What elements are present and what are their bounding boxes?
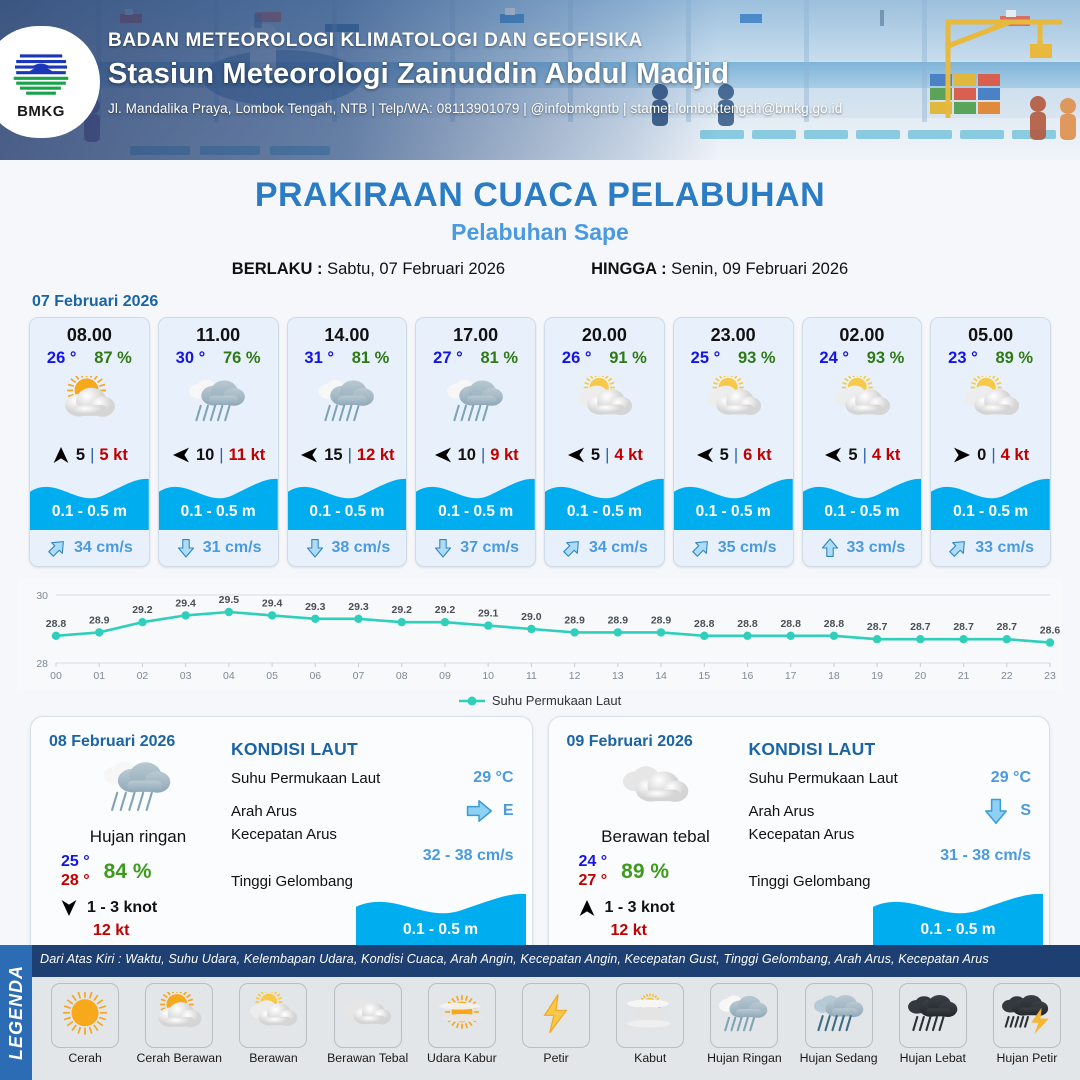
card-current-row: 37 cm/s bbox=[416, 530, 535, 566]
svg-text:29.2: 29.2 bbox=[392, 604, 413, 616]
svg-text:28.9: 28.9 bbox=[89, 614, 110, 626]
card-temp-humidity: 31 °81 % bbox=[288, 348, 407, 368]
panel-sst-row: Suhu Permukaan Laut29 °C bbox=[749, 769, 1032, 787]
weather-icon-hujan-petir bbox=[1001, 992, 1053, 1039]
legenda-icon-box bbox=[522, 983, 590, 1048]
legenda-tab: LEGENDA bbox=[0, 945, 32, 1080]
forecast-card: 20.0026 °91 %5|4 kt0.1 - 0.5 m34 cm/s bbox=[544, 317, 665, 567]
wave-graphic bbox=[803, 472, 922, 530]
card-time: 05.00 bbox=[931, 318, 1050, 348]
card-current-speed: 37 cm/s bbox=[460, 539, 519, 557]
panel-temps: 24 °27 ° bbox=[579, 853, 608, 890]
svg-text:28.8: 28.8 bbox=[694, 618, 715, 630]
card-temperature: 25 ° bbox=[691, 349, 721, 368]
svg-text:28.8: 28.8 bbox=[780, 618, 801, 630]
panel-current-speed-label: Kecepatan Arus bbox=[231, 826, 514, 843]
wave-graphic bbox=[288, 472, 407, 530]
card-weather-icon bbox=[416, 368, 535, 438]
wind-direction-arrow-e bbox=[566, 445, 586, 465]
card-wind-speed: 5 bbox=[591, 446, 600, 465]
svg-text:16: 16 bbox=[742, 670, 754, 682]
card-time: 08.00 bbox=[30, 318, 149, 348]
legenda-item-label: Cerah Berawan bbox=[137, 1051, 222, 1065]
panel-sst-value: 29 °C bbox=[991, 769, 1031, 787]
svg-text:28: 28 bbox=[36, 658, 48, 670]
card-humidity: 87 % bbox=[94, 349, 132, 368]
current-direction-arrow-s bbox=[175, 537, 197, 559]
panel-date: 08 Februari 2026 bbox=[49, 733, 227, 751]
weather-icon-berawan-tebal bbox=[342, 992, 394, 1039]
legenda-item: Kabut bbox=[603, 983, 697, 1065]
wave-graphic bbox=[416, 472, 535, 530]
legenda-icon-box bbox=[616, 983, 684, 1048]
card-wave-zone: 0.1 - 0.5 m bbox=[416, 472, 535, 530]
legenda-item: Berawan Tebal bbox=[321, 983, 415, 1065]
panel-wave-wrap: 0.1 - 0.5 m bbox=[356, 887, 526, 949]
card-gust: 4 kt bbox=[1001, 446, 1029, 465]
card-wind-speed: 15 bbox=[324, 446, 342, 465]
wind-direction-arrow-e bbox=[695, 445, 715, 465]
card-time: 20.00 bbox=[545, 318, 664, 348]
forecast-card: 17.0027 °81 %10|9 kt0.1 - 0.5 m37 cm/s bbox=[415, 317, 536, 567]
forecast-card: 05.0023 °89 %0|4 kt0.1 - 0.5 m33 cm/s bbox=[930, 317, 1051, 567]
card-temperature: 26 ° bbox=[47, 349, 77, 368]
panel-wind-range: 1 - 3 knot bbox=[605, 899, 675, 917]
svg-text:28.8: 28.8 bbox=[824, 618, 845, 630]
svg-text:29.3: 29.3 bbox=[305, 601, 326, 613]
card-weather-icon bbox=[159, 368, 278, 438]
card-current-speed: 35 cm/s bbox=[718, 539, 777, 557]
card-humidity: 93 % bbox=[738, 349, 776, 368]
card-wind-row: 10|11 kt bbox=[159, 438, 278, 472]
legenda-icon-box bbox=[805, 983, 873, 1048]
legenda-item: Udara Kabur bbox=[415, 983, 509, 1065]
card-wave-height: 0.1 - 0.5 m bbox=[803, 503, 922, 521]
svg-text:12: 12 bbox=[569, 670, 581, 682]
card-time: 14.00 bbox=[288, 318, 407, 348]
card-time: 02.00 bbox=[803, 318, 922, 348]
svg-text:28.7: 28.7 bbox=[953, 621, 974, 633]
card-current-speed: 34 cm/s bbox=[589, 539, 648, 557]
panel-humidity: 89 % bbox=[621, 860, 669, 884]
page-title: PRAKIRAAN CUACA PELABUHAN bbox=[0, 176, 1080, 215]
card-gust: 4 kt bbox=[614, 446, 642, 465]
svg-text:28.7: 28.7 bbox=[867, 621, 888, 633]
valid-from: BERLAKU : Sabtu, 07 Februari 2026 bbox=[232, 260, 505, 279]
chart-legend-swatch bbox=[459, 695, 485, 707]
card-current-row: 35 cm/s bbox=[674, 530, 793, 566]
card-current-row: 33 cm/s bbox=[803, 530, 922, 566]
panel-sst-row: Suhu Permukaan Laut29 °C bbox=[231, 769, 514, 787]
card-wind-separator: | bbox=[348, 446, 352, 465]
card-wave-zone: 0.1 - 0.5 m bbox=[674, 472, 793, 530]
card-temperature: 31 ° bbox=[304, 349, 334, 368]
panel-current-speed-row: Kecepatan Arus31 - 38 cm/s bbox=[749, 826, 1032, 865]
card-humidity: 81 % bbox=[480, 349, 518, 368]
panel-wind-row: 1 - 3 knot bbox=[59, 898, 227, 918]
svg-text:28.9: 28.9 bbox=[608, 614, 629, 626]
current-direction-arrow-s bbox=[432, 537, 454, 559]
svg-text:28.7: 28.7 bbox=[910, 621, 931, 633]
svg-text:28.9: 28.9 bbox=[564, 614, 585, 626]
legenda-item-label: Udara Kabur bbox=[427, 1051, 497, 1065]
card-wind-separator: | bbox=[991, 446, 995, 465]
legenda-icon-box bbox=[145, 983, 213, 1048]
panel-date: 09 Februari 2026 bbox=[567, 733, 745, 751]
current-direction-arrow-e bbox=[464, 796, 494, 826]
current-direction-arrow-ne bbox=[947, 537, 969, 559]
legenda-item: Petir bbox=[509, 983, 603, 1065]
svg-text:28.6: 28.6 bbox=[1040, 625, 1061, 637]
card-humidity: 89 % bbox=[995, 349, 1033, 368]
card-gust: 11 kt bbox=[229, 446, 266, 465]
card-temperature: 23 ° bbox=[948, 349, 978, 368]
legenda-item-label: Hujan Sedang bbox=[800, 1051, 878, 1065]
legenda-icon-box bbox=[239, 983, 307, 1048]
svg-text:10: 10 bbox=[482, 670, 494, 682]
svg-text:20: 20 bbox=[915, 670, 927, 682]
forecast-card: 14.0031 °81 %15|12 kt0.1 - 0.5 m38 cm/s bbox=[287, 317, 408, 567]
card-wind-row: 5|4 kt bbox=[803, 438, 922, 472]
card-current-row: 38 cm/s bbox=[288, 530, 407, 566]
legenda-item: Hujan Sedang bbox=[792, 983, 886, 1065]
panel-current-speed-value: 32 - 38 cm/s bbox=[231, 847, 514, 865]
wind-direction-arrow-e bbox=[823, 445, 843, 465]
card-temp-humidity: 27 °81 % bbox=[416, 348, 535, 368]
card-wind-row: 5|5 kt bbox=[30, 438, 149, 472]
forecast-card: 08.0026 °87 %5|5 kt0.1 - 0.5 m34 cm/s bbox=[29, 317, 150, 567]
current-direction-arrow-s bbox=[304, 537, 326, 559]
card-wave-height: 0.1 - 0.5 m bbox=[545, 503, 664, 521]
legenda-item-label: Kabut bbox=[634, 1051, 666, 1065]
weather-icon-berawan-tebal bbox=[620, 757, 692, 822]
panel-right: KONDISI LAUTSuhu Permukaan Laut29 °CArah… bbox=[227, 717, 532, 963]
card-wave-zone: 0.1 - 0.5 m bbox=[803, 472, 922, 530]
wind-direction-arrow-e bbox=[433, 445, 453, 465]
bmkg-logo-text: BMKG bbox=[17, 103, 65, 120]
weather-icon-hujan-ringan bbox=[188, 376, 248, 430]
card-time: 23.00 bbox=[674, 318, 793, 348]
legenda-item-label: Petir bbox=[543, 1051, 568, 1065]
svg-text:01: 01 bbox=[93, 670, 105, 682]
legenda-item: Hujan Lebat bbox=[886, 983, 980, 1065]
card-humidity: 76 % bbox=[223, 349, 261, 368]
card-weather-icon bbox=[288, 368, 407, 438]
svg-text:29.4: 29.4 bbox=[262, 597, 283, 609]
card-wind-row: 0|4 kt bbox=[931, 438, 1050, 472]
card-wave-height: 0.1 - 0.5 m bbox=[416, 503, 535, 521]
legenda-note: Dari Atas Kiri : Waktu, Suhu Udara, Kele… bbox=[40, 952, 1074, 966]
svg-text:29.1: 29.1 bbox=[478, 608, 499, 620]
wind-direction-arrow-s bbox=[51, 445, 71, 465]
card-current-row: 34 cm/s bbox=[30, 530, 149, 566]
panel-temp-max: 28 ° bbox=[61, 872, 90, 890]
title-block: PRAKIRAAN CUACA PELABUHAN Pelabuhan Sape… bbox=[0, 176, 1080, 279]
card-weather-icon bbox=[803, 368, 922, 438]
agency-name: BADAN METEOROLOGI KLIMATOLOGI DAN GEOFIS… bbox=[108, 30, 988, 52]
panel-sea-title: KONDISI LAUT bbox=[231, 739, 514, 760]
valid-from-value: Sabtu, 07 Februari 2026 bbox=[327, 260, 505, 278]
svg-text:29.0: 29.0 bbox=[521, 611, 542, 623]
panel-current-speed-row: Kecepatan Arus32 - 38 cm/s bbox=[231, 826, 514, 865]
svg-text:23: 23 bbox=[1044, 670, 1056, 682]
wind-direction-arrow-e bbox=[171, 445, 191, 465]
card-weather-icon bbox=[545, 368, 664, 438]
card-wind-speed: 5 bbox=[76, 446, 85, 465]
panel-wave-value: 0.1 - 0.5 m bbox=[873, 921, 1043, 939]
card-wind-speed: 10 bbox=[196, 446, 214, 465]
daily-forecast-panels: 08 Februari 2026Hujan ringan25 °28 °84 %… bbox=[0, 708, 1080, 964]
card-current-speed: 33 cm/s bbox=[975, 539, 1034, 557]
card-wind-separator: | bbox=[605, 446, 609, 465]
svg-text:13: 13 bbox=[612, 670, 624, 682]
weather-icon-cerah-berawan bbox=[153, 992, 205, 1039]
svg-text:00: 00 bbox=[50, 670, 62, 682]
card-wave-height: 0.1 - 0.5 m bbox=[30, 503, 149, 521]
svg-text:29.5: 29.5 bbox=[219, 594, 240, 606]
legenda-section: LEGENDA Dari Atas Kiri : Waktu, Suhu Uda… bbox=[0, 945, 1080, 1080]
weather-icon-berawan bbox=[703, 376, 763, 430]
bmkg-logo-icon bbox=[10, 44, 72, 102]
card-current-row: 31 cm/s bbox=[159, 530, 278, 566]
panel-temp-min: 24 ° bbox=[579, 853, 608, 871]
panel-temp-block: 25 °28 °84 % bbox=[61, 853, 227, 890]
sst-chart-svg: 302828.80028.90129.20229.40329.50429.405… bbox=[18, 579, 1062, 689]
card-weather-icon bbox=[931, 368, 1050, 438]
valid-until: HINGGA : Senin, 09 Februari 2026 bbox=[591, 260, 848, 279]
card-wind-speed: 10 bbox=[458, 446, 476, 465]
legenda-icon-box bbox=[899, 983, 967, 1048]
card-wind-speed: 0 bbox=[977, 446, 986, 465]
card-time: 17.00 bbox=[416, 318, 535, 348]
wind-direction-arrow-e bbox=[299, 445, 319, 465]
legenda-icon-box bbox=[334, 983, 402, 1048]
card-wind-row: 5|4 kt bbox=[545, 438, 664, 472]
panel-humidity: 84 % bbox=[104, 860, 152, 884]
wind-direction-arrow-w bbox=[952, 445, 972, 465]
card-current-speed: 34 cm/s bbox=[74, 539, 133, 557]
svg-text:19: 19 bbox=[871, 670, 883, 682]
panel-current-dir-value: S bbox=[1020, 802, 1031, 820]
sst-chart: 302828.80028.90129.20229.40329.50429.405… bbox=[18, 579, 1062, 689]
card-temp-humidity: 24 °93 % bbox=[803, 348, 922, 368]
legenda-item: Cerah bbox=[38, 983, 132, 1065]
panel-temp-block: 24 °27 °89 % bbox=[579, 853, 745, 890]
chart-legend: Suhu Permukaan Laut bbox=[0, 693, 1080, 708]
wind-direction-arrow-n bbox=[59, 898, 79, 918]
panel-current-dir-value: E bbox=[503, 802, 514, 820]
forecast-day-label: 07 Februari 2026 bbox=[32, 293, 1080, 311]
card-gust: 5 kt bbox=[99, 446, 127, 465]
panel-current-dir-label: Arah Arus bbox=[749, 803, 815, 820]
card-weather-icon bbox=[674, 368, 793, 438]
panel-sea-title: KONDISI LAUT bbox=[749, 739, 1032, 760]
card-gust: 6 kt bbox=[743, 446, 771, 465]
hourly-forecast-list: 08.0026 °87 %5|5 kt0.1 - 0.5 m34 cm/s11.… bbox=[0, 317, 1080, 567]
weather-icon-berawan bbox=[574, 376, 634, 430]
legenda-item-label: Cerah bbox=[68, 1051, 102, 1065]
valid-from-label: BERLAKU : bbox=[232, 260, 323, 278]
svg-text:14: 14 bbox=[655, 670, 667, 682]
valid-until-value: Senin, 09 Februari 2026 bbox=[671, 260, 848, 278]
legenda-item: Hujan Petir bbox=[980, 983, 1074, 1065]
card-gust: 12 kt bbox=[357, 446, 395, 465]
card-temp-humidity: 25 °93 % bbox=[674, 348, 793, 368]
card-temp-humidity: 26 °91 % bbox=[545, 348, 664, 368]
svg-text:06: 06 bbox=[309, 670, 321, 682]
card-temperature: 24 ° bbox=[819, 349, 849, 368]
card-current-row: 34 cm/s bbox=[545, 530, 664, 566]
svg-text:28.8: 28.8 bbox=[737, 618, 758, 630]
card-wave-height: 0.1 - 0.5 m bbox=[159, 503, 278, 521]
svg-text:07: 07 bbox=[353, 670, 365, 682]
legenda-item-label: Hujan Lebat bbox=[900, 1051, 966, 1065]
valid-until-label: HINGGA : bbox=[591, 260, 666, 278]
svg-text:21: 21 bbox=[958, 670, 970, 682]
current-direction-arrow-ne bbox=[46, 537, 68, 559]
card-wind-row: 10|9 kt bbox=[416, 438, 535, 472]
weather-icon-udara-kabur bbox=[436, 992, 488, 1039]
station-name: Stasiun Meteorologi Zainuddin Abdul Madj… bbox=[108, 58, 988, 91]
weather-icon-hujan-sedang bbox=[813, 992, 865, 1039]
svg-text:08: 08 bbox=[396, 670, 408, 682]
panel-left: 09 Februari 2026Berawan tebal24 °27 °89 … bbox=[549, 717, 745, 963]
panel-wave-wrap: 0.1 - 0.5 m bbox=[873, 887, 1043, 949]
svg-text:04: 04 bbox=[223, 670, 235, 682]
card-current-row: 33 cm/s bbox=[931, 530, 1050, 566]
card-wave-zone: 0.1 - 0.5 m bbox=[159, 472, 278, 530]
wave-graphic bbox=[159, 472, 278, 530]
weather-icon-hujan-ringan bbox=[317, 376, 377, 430]
weather-icon-hujan-ringan bbox=[718, 992, 770, 1039]
card-wind-separator: | bbox=[734, 446, 738, 465]
header-text-block: BADAN METEOROLOGI KLIMATOLOGI DAN GEOFIS… bbox=[108, 30, 988, 116]
legenda-icon-box bbox=[993, 983, 1061, 1048]
weather-icon-kabut bbox=[624, 992, 676, 1039]
panel-temp-max: 27 ° bbox=[579, 872, 608, 890]
panel-weather-icon bbox=[49, 753, 227, 825]
wave-graphic bbox=[30, 472, 149, 530]
svg-text:17: 17 bbox=[785, 670, 797, 682]
weather-icon-hujan-lebat bbox=[907, 992, 959, 1039]
svg-text:11: 11 bbox=[526, 670, 537, 682]
svg-text:29.3: 29.3 bbox=[348, 601, 369, 613]
svg-text:18: 18 bbox=[828, 670, 840, 682]
svg-text:05: 05 bbox=[266, 670, 278, 682]
panel-gust: 12 kt bbox=[93, 922, 227, 940]
port-name: Pelabuhan Sape bbox=[0, 219, 1080, 246]
legenda-icon-box bbox=[428, 983, 496, 1048]
panel-temp-min: 25 ° bbox=[61, 853, 90, 871]
panel-right: KONDISI LAUTSuhu Permukaan Laut29 °CArah… bbox=[745, 717, 1050, 963]
legenda-item-label: Berawan Tebal bbox=[327, 1051, 408, 1065]
legenda-icon-box bbox=[51, 983, 119, 1048]
legenda-icon-strip: CerahCerah BerawanBerawanBerawan TebalUd… bbox=[32, 977, 1080, 1080]
card-wind-separator: | bbox=[90, 446, 94, 465]
panel-current-speed-label: Kecepatan Arus bbox=[749, 826, 1032, 843]
card-current-speed: 33 cm/s bbox=[847, 539, 906, 557]
weather-icon-cerah bbox=[59, 992, 111, 1039]
card-humidity: 81 % bbox=[352, 349, 390, 368]
panel-sst-label: Suhu Permukaan Laut bbox=[749, 770, 898, 787]
svg-text:29.2: 29.2 bbox=[435, 604, 456, 616]
weather-icon-hujan-ringan bbox=[102, 757, 174, 822]
legenda-item: Berawan bbox=[226, 983, 320, 1065]
daily-forecast-panel: 09 Februari 2026Berawan tebal24 °27 °89 … bbox=[548, 716, 1051, 964]
card-humidity: 93 % bbox=[867, 349, 905, 368]
validity-row: BERLAKU : Sabtu, 07 Februari 2026 HINGGA… bbox=[0, 260, 1080, 279]
legenda-item-label: Hujan Petir bbox=[997, 1051, 1058, 1065]
wave-graphic bbox=[931, 472, 1050, 530]
weather-icon-berawan bbox=[832, 376, 892, 430]
panel-gust: 12 kt bbox=[611, 922, 745, 940]
panel-condition: Hujan ringan bbox=[49, 827, 227, 847]
card-wave-height: 0.1 - 0.5 m bbox=[288, 503, 407, 521]
legenda-tab-label: LEGENDA bbox=[6, 965, 27, 1060]
card-wave-zone: 0.1 - 0.5 m bbox=[30, 472, 149, 530]
panel-current-dir-row: Arah ArusS bbox=[749, 796, 1032, 826]
svg-text:09: 09 bbox=[439, 670, 451, 682]
card-wind-separator: | bbox=[481, 446, 485, 465]
panel-condition: Berawan tebal bbox=[567, 827, 745, 847]
card-temperature: 30 ° bbox=[176, 349, 206, 368]
card-wave-zone: 0.1 - 0.5 m bbox=[288, 472, 407, 530]
forecast-card: 02.0024 °93 %5|4 kt0.1 - 0.5 m33 cm/s bbox=[802, 317, 923, 567]
card-wind-row: 5|6 kt bbox=[674, 438, 793, 472]
svg-text:22: 22 bbox=[1001, 670, 1013, 682]
svg-text:28.8: 28.8 bbox=[46, 618, 67, 630]
legenda-item: Hujan Ringan bbox=[697, 983, 791, 1065]
panel-current-dir-row: Arah ArusE bbox=[231, 796, 514, 826]
svg-text:02: 02 bbox=[137, 670, 149, 682]
legend-marker-icon bbox=[459, 695, 485, 707]
svg-text:15: 15 bbox=[698, 670, 710, 682]
current-direction-arrow-n bbox=[819, 537, 841, 559]
card-temp-humidity: 30 °76 % bbox=[159, 348, 278, 368]
forecast-card: 11.0030 °76 %10|11 kt0.1 - 0.5 m31 cm/s bbox=[158, 317, 279, 567]
panel-current-dir: S bbox=[981, 796, 1031, 826]
panel-current-dir: E bbox=[464, 796, 514, 826]
svg-text:03: 03 bbox=[180, 670, 192, 682]
legenda-icon-box bbox=[710, 983, 778, 1048]
wave-graphic bbox=[545, 472, 664, 530]
card-current-speed: 38 cm/s bbox=[332, 539, 391, 557]
panel-sst-label: Suhu Permukaan Laut bbox=[231, 770, 380, 787]
card-gust: 4 kt bbox=[872, 446, 900, 465]
card-wave-height: 0.1 - 0.5 m bbox=[674, 503, 793, 521]
legenda-item: Cerah Berawan bbox=[132, 983, 226, 1065]
panel-current-dir-label: Arah Arus bbox=[231, 803, 297, 820]
daily-forecast-panel: 08 Februari 2026Hujan ringan25 °28 °84 %… bbox=[30, 716, 533, 964]
card-wave-zone: 0.1 - 0.5 m bbox=[931, 472, 1050, 530]
weather-icon-berawan bbox=[247, 992, 299, 1039]
card-temperature: 27 ° bbox=[433, 349, 463, 368]
card-current-speed: 31 cm/s bbox=[203, 539, 262, 557]
weather-icon-cerah-berawan bbox=[59, 376, 119, 430]
weather-icon-hujan-ringan bbox=[446, 376, 506, 430]
page-header: BMKG BADAN METEOROLOGI KLIMATOLOGI DAN G… bbox=[0, 0, 1080, 160]
legenda-item-label: Berawan bbox=[249, 1051, 298, 1065]
panel-wind-range: 1 - 3 knot bbox=[87, 899, 157, 917]
panel-wind-row: 1 - 3 knot bbox=[577, 898, 745, 918]
card-temp-humidity: 26 °87 % bbox=[30, 348, 149, 368]
card-wind-speed: 5 bbox=[848, 446, 857, 465]
contact-info: Jl. Mandalika Praya, Lombok Tengah, NTB … bbox=[108, 101, 988, 116]
panel-current-speed-value: 31 - 38 cm/s bbox=[749, 847, 1032, 865]
current-direction-arrow-s bbox=[981, 796, 1011, 826]
legenda-item-label: Hujan Ringan bbox=[707, 1051, 782, 1065]
card-wind-separator: | bbox=[219, 446, 223, 465]
